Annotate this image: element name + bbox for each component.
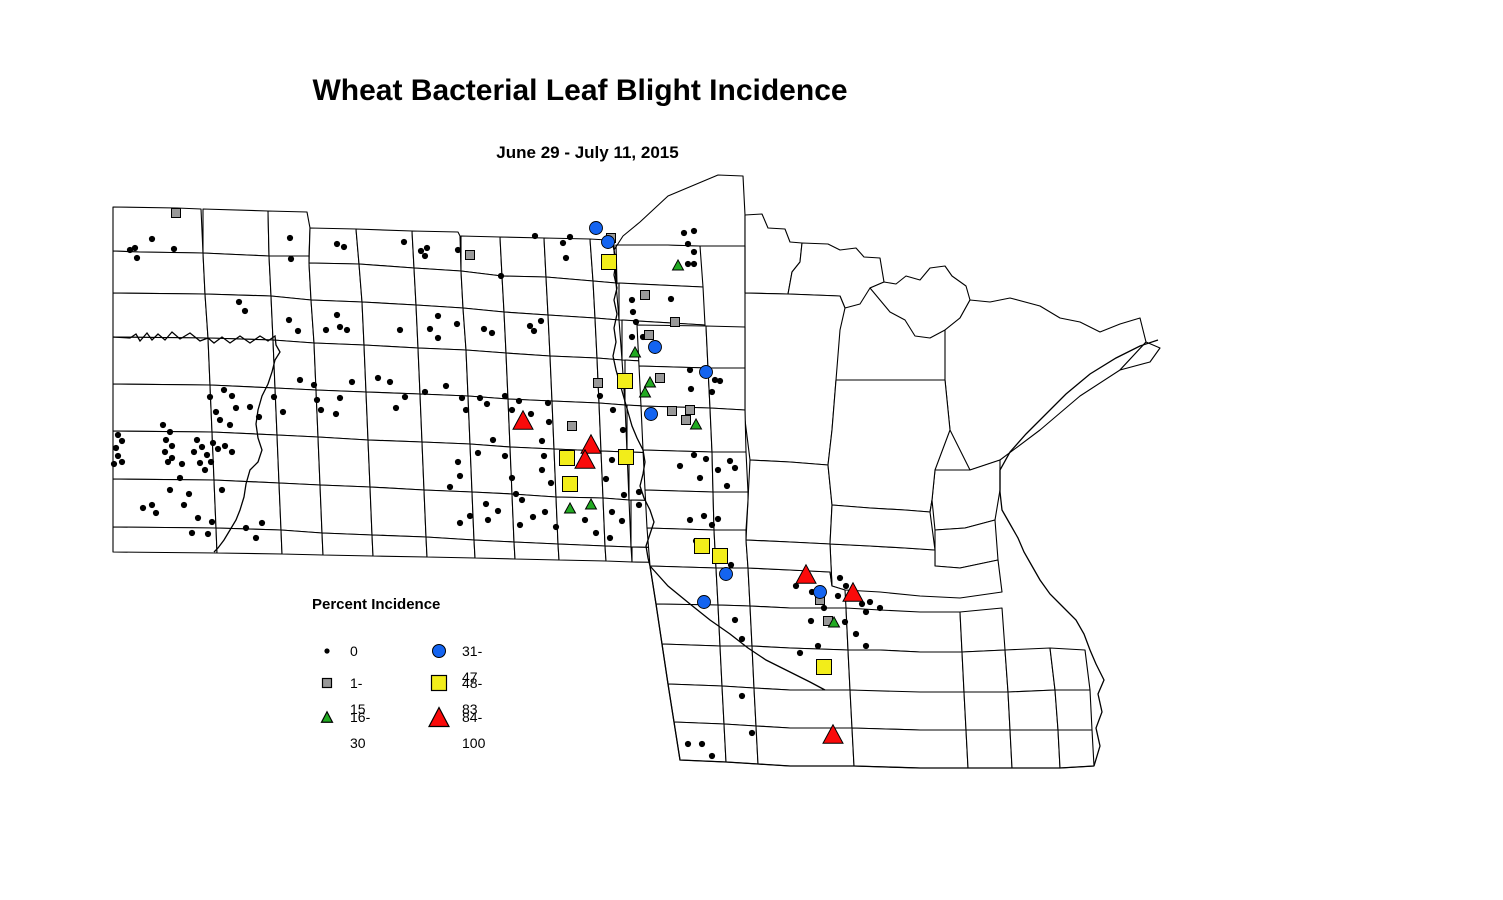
map-point-0 — [793, 583, 799, 589]
map-point-1-15 — [594, 379, 603, 388]
map-point-0 — [160, 422, 166, 428]
map-point-0 — [422, 389, 428, 395]
map-point-0 — [113, 445, 119, 451]
map-point-31-47 — [720, 568, 733, 581]
map-point-0 — [517, 522, 523, 528]
red-triangle-icon — [426, 704, 452, 730]
map-point-0 — [475, 450, 481, 456]
map-point-0 — [539, 467, 545, 473]
map-point-31-47 — [602, 236, 615, 249]
map-point-0 — [749, 730, 755, 736]
map-point-1-15 — [656, 374, 665, 383]
map-point-0 — [837, 575, 843, 581]
map-point-0 — [297, 377, 303, 383]
map-point-48-83 — [619, 450, 634, 465]
map-point-0 — [528, 411, 534, 417]
map-point-0 — [481, 326, 487, 332]
map-point-0 — [688, 386, 694, 392]
map-point-0 — [691, 452, 697, 458]
map-point-0 — [387, 379, 393, 385]
map-point-0 — [233, 405, 239, 411]
map-point-0 — [709, 753, 715, 759]
map-point-0 — [483, 501, 489, 507]
map-point-0 — [208, 459, 214, 465]
map-point-0 — [213, 409, 219, 415]
map-point-0 — [167, 487, 173, 493]
map-point-31-47 — [700, 366, 713, 379]
map-point-0 — [162, 449, 168, 455]
map-point-0 — [593, 530, 599, 536]
map-point-0 — [402, 394, 408, 400]
map-point-0 — [724, 483, 730, 489]
map-point-0 — [677, 463, 683, 469]
map-point-0 — [509, 475, 515, 481]
map-point-0 — [609, 509, 615, 515]
map-point-1-15 — [568, 422, 577, 431]
map-point-0 — [256, 414, 262, 420]
map-point-0 — [703, 456, 709, 462]
map-point-0 — [221, 387, 227, 393]
map-point-0 — [685, 261, 691, 267]
map-point-0 — [205, 531, 211, 537]
map-point-0 — [435, 313, 441, 319]
map-point-0 — [808, 618, 814, 624]
map-point-0 — [732, 617, 738, 623]
map-point-0 — [115, 432, 121, 438]
map-point-0 — [447, 484, 453, 490]
map-point-0 — [620, 427, 626, 433]
map-point-0 — [349, 379, 355, 385]
map-point-0 — [697, 475, 703, 481]
map-point-0 — [609, 457, 615, 463]
map-point-0 — [477, 395, 483, 401]
map-point-0 — [119, 438, 125, 444]
map-point-48-83 — [618, 374, 633, 389]
map-point-0 — [863, 643, 869, 649]
map-point-0 — [701, 513, 707, 519]
map-point-0 — [209, 519, 215, 525]
map-point-0 — [115, 453, 121, 459]
map-point-0 — [709, 522, 715, 528]
map-point-0 — [490, 437, 496, 443]
map-point-0 — [531, 328, 537, 334]
map-point-0 — [489, 330, 495, 336]
map-point-0 — [271, 394, 277, 400]
map-point-0 — [194, 437, 200, 443]
map-point-0 — [204, 452, 210, 458]
map-point-0 — [153, 510, 159, 516]
map-point-0 — [513, 491, 519, 497]
yellow-square-icon — [426, 670, 452, 696]
map-point-31-47 — [645, 408, 658, 421]
map-point-0 — [863, 609, 869, 615]
map-point-0 — [149, 236, 155, 242]
map-point-0 — [603, 476, 609, 482]
map-point-0 — [337, 324, 343, 330]
map-point-0 — [397, 327, 403, 333]
map-point-31-47 — [814, 586, 827, 599]
map-point-0 — [457, 520, 463, 526]
map-point-0 — [311, 382, 317, 388]
map-point-31-47 — [649, 341, 662, 354]
map-point-0 — [484, 401, 490, 407]
map-point-0 — [553, 524, 559, 530]
map-point-31-47 — [590, 222, 603, 235]
map-point-0 — [527, 323, 533, 329]
map-point-0 — [337, 395, 343, 401]
legend-title: Percent Incidence — [312, 596, 440, 613]
map-point-0 — [835, 593, 841, 599]
map-point-0 — [715, 467, 721, 473]
map-point-0 — [427, 326, 433, 332]
map-point-0 — [691, 261, 697, 267]
map-point-0 — [498, 273, 504, 279]
map-point-0 — [563, 255, 569, 261]
map-point-0 — [629, 334, 635, 340]
map-point-0 — [202, 467, 208, 473]
map-point-0 — [636, 502, 642, 508]
map-point-0 — [546, 419, 552, 425]
map-point-0 — [582, 517, 588, 523]
blue-circle-icon — [426, 638, 452, 664]
map-point-0 — [685, 241, 691, 247]
map-point-0 — [132, 245, 138, 251]
map-point-0 — [318, 407, 324, 413]
map-point-0 — [229, 449, 235, 455]
map-point-0 — [630, 309, 636, 315]
map-point-0 — [288, 256, 294, 262]
map-point-0 — [424, 245, 430, 251]
map-point-0 — [715, 516, 721, 522]
map-point-0 — [119, 459, 125, 465]
map-point-0 — [217, 417, 223, 423]
map-point-31-47 — [698, 596, 711, 609]
map-point-0 — [567, 234, 573, 240]
map-point-1-15 — [682, 416, 691, 425]
map-point-0 — [545, 400, 551, 406]
map-point-0 — [227, 422, 233, 428]
map-point-0 — [229, 393, 235, 399]
map-point-0 — [668, 296, 674, 302]
legend-label: 84-100 — [462, 704, 485, 756]
map-point-0 — [853, 631, 859, 637]
map-point-0 — [169, 443, 175, 449]
map-point-0 — [681, 230, 687, 236]
map-point-0 — [280, 409, 286, 415]
map-point-0 — [728, 562, 734, 568]
map-point-0 — [732, 465, 738, 471]
map-point-0 — [341, 244, 347, 250]
map-point-48-83 — [713, 549, 728, 564]
map-point-0 — [502, 453, 508, 459]
map-point-0 — [197, 460, 203, 466]
map-point-0 — [821, 605, 827, 611]
map-point-0 — [621, 492, 627, 498]
map-point-0 — [219, 487, 225, 493]
map-point-0 — [181, 502, 187, 508]
map-point-0 — [502, 393, 508, 399]
map-point-0 — [167, 429, 173, 435]
map-point-0 — [538, 318, 544, 324]
map-point-0 — [287, 235, 293, 241]
map-point-0 — [295, 328, 301, 334]
map-point-0 — [222, 443, 228, 449]
map-point-0 — [314, 397, 320, 403]
map-point-0 — [699, 741, 705, 747]
map-point-0 — [186, 491, 192, 497]
map-point-0 — [539, 438, 545, 444]
map-point-1-15 — [466, 251, 475, 260]
map-point-0 — [455, 459, 461, 465]
map-point-0 — [253, 535, 259, 541]
map-point-0 — [286, 317, 292, 323]
map-point-0 — [242, 308, 248, 314]
map-point-0 — [548, 480, 554, 486]
map-figure: Wheat Bacterial Leaf Blight Incidence Ju… — [0, 0, 1503, 900]
map-point-0 — [435, 335, 441, 341]
map-point-0 — [560, 240, 566, 246]
map-point-0 — [149, 502, 155, 508]
map-point-0 — [797, 650, 803, 656]
map-point-0 — [189, 530, 195, 536]
map-point-0 — [463, 407, 469, 413]
map-point-0 — [165, 459, 171, 465]
map-point-0 — [687, 367, 693, 373]
map-point-0 — [393, 405, 399, 411]
map-point-0 — [691, 228, 697, 234]
map-point-0 — [236, 299, 242, 305]
map-point-1-15 — [645, 331, 654, 340]
map-point-0 — [243, 525, 249, 531]
map-point-0 — [344, 327, 350, 333]
map-point-0 — [259, 520, 265, 526]
map-point-0 — [495, 508, 501, 514]
legend-label: 0 — [350, 638, 358, 664]
map-point-0 — [457, 473, 463, 479]
map-point-1-15 — [671, 318, 680, 327]
map-point-0 — [485, 517, 491, 523]
map-point-0 — [323, 327, 329, 333]
legend-label: 16-30 — [350, 704, 370, 756]
map-point-0 — [163, 437, 169, 443]
map-point-0 — [530, 514, 536, 520]
map-point-0 — [210, 440, 216, 446]
map-point-0 — [443, 383, 449, 389]
map-point-48-83 — [602, 255, 617, 270]
map-point-0 — [111, 461, 117, 467]
map-point-0 — [877, 605, 883, 611]
map-point-0 — [629, 297, 635, 303]
map-point-0 — [334, 241, 340, 247]
map-point-48-83 — [695, 539, 710, 554]
gray-square-icon — [314, 670, 340, 696]
map-point-0 — [177, 475, 183, 481]
map-point-0 — [843, 583, 849, 589]
map-point-0 — [191, 449, 197, 455]
map-point-0 — [842, 619, 848, 625]
map-point-0 — [687, 517, 693, 523]
map-point-0 — [455, 247, 461, 253]
map-point-0 — [691, 249, 697, 255]
green-triangle-icon — [314, 704, 340, 730]
map-point-0 — [542, 509, 548, 515]
map-point-0 — [519, 497, 525, 503]
map-point-0 — [636, 489, 642, 495]
map-point-0 — [171, 246, 177, 252]
map-point-0 — [454, 321, 460, 327]
map-point-0 — [607, 535, 613, 541]
incidence-map — [0, 0, 1503, 900]
map-point-0 — [717, 378, 723, 384]
map-point-0 — [195, 515, 201, 521]
map-point-0 — [207, 394, 213, 400]
map-point-0 — [134, 255, 140, 261]
map-point-0 — [509, 407, 515, 413]
map-point-48-83 — [563, 477, 578, 492]
map-point-1-15 — [668, 407, 677, 416]
legend: Percent Incidence 01-1516-3031-4748-8384… — [300, 596, 560, 736]
map-point-0 — [727, 458, 733, 464]
map-point-0 — [401, 239, 407, 245]
map-point-0 — [610, 407, 616, 413]
map-point-0 — [333, 411, 339, 417]
map-point-0 — [140, 505, 146, 511]
map-point-0 — [179, 461, 185, 467]
map-point-0 — [375, 375, 381, 381]
map-point-0 — [532, 233, 538, 239]
map-point-0 — [815, 643, 821, 649]
map-point-0 — [709, 389, 715, 395]
map-point-0 — [418, 248, 424, 254]
map-point-0 — [467, 513, 473, 519]
map-point-0 — [541, 453, 547, 459]
map-point-0 — [739, 636, 745, 642]
map-point-0 — [334, 312, 340, 318]
map-point-1-15 — [641, 291, 650, 300]
map-point-48-83 — [817, 660, 832, 675]
map-point-0 — [215, 446, 221, 452]
map-point-0 — [459, 395, 465, 401]
map-point-1-15 — [686, 406, 695, 415]
map-point-0 — [739, 693, 745, 699]
map-point-0 — [867, 599, 873, 605]
map-point-0 — [619, 518, 625, 524]
small-dot-icon — [314, 638, 340, 664]
map-point-0 — [597, 393, 603, 399]
map-point-0 — [859, 601, 865, 607]
map-point-0 — [247, 404, 253, 410]
map-point-0 — [633, 319, 639, 325]
map-point-0 — [685, 741, 691, 747]
map-point-0 — [422, 253, 428, 259]
map-point-48-83 — [560, 451, 575, 466]
map-point-0 — [516, 398, 522, 404]
map-point-1-15 — [172, 209, 181, 218]
map-point-0 — [199, 444, 205, 450]
